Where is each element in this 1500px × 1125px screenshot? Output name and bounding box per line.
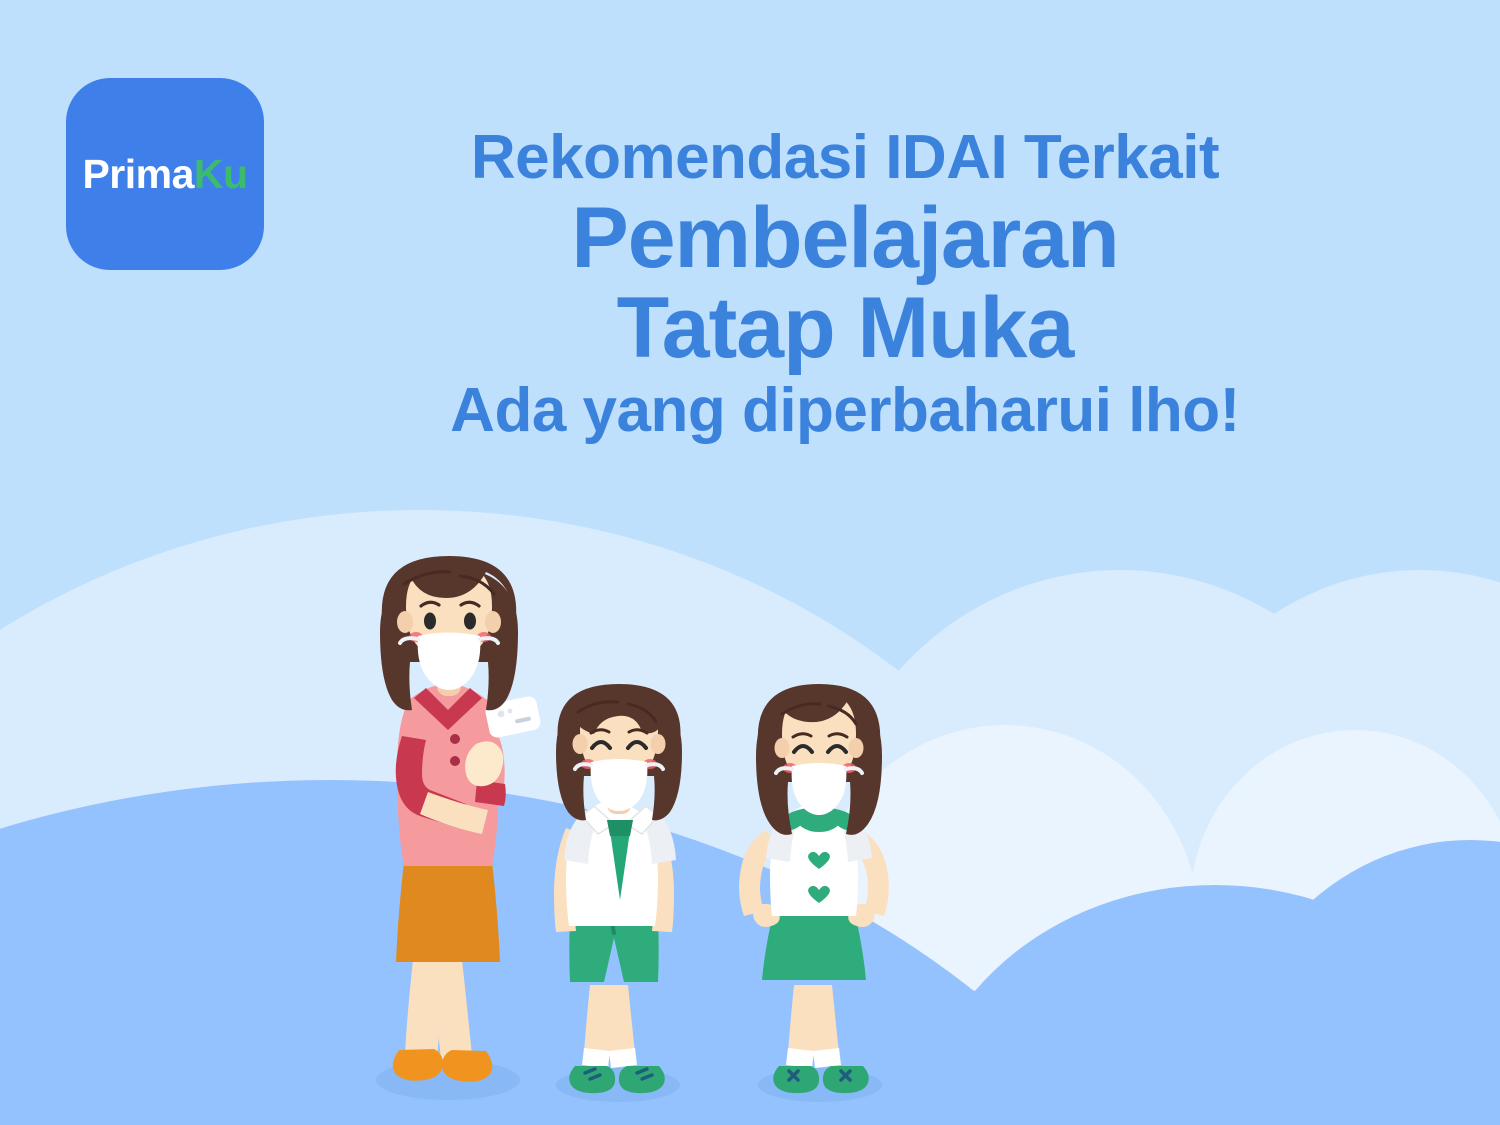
girl-mask xyxy=(792,763,847,815)
teacher-eye-left xyxy=(424,613,436,630)
teacher-shoe-left xyxy=(393,1049,443,1081)
teacher-mask xyxy=(418,633,481,691)
boy-tie-knot xyxy=(607,820,633,836)
teacher-eye-right xyxy=(464,613,476,630)
headline-line-4: Ada yang diperbaharui lho! xyxy=(330,379,1360,442)
primaku-logo[interactable]: PrimaKu xyxy=(66,78,264,270)
teacher-button-1 xyxy=(450,734,460,744)
headline-line-1: Rekomendasi IDAI Terkait xyxy=(330,126,1360,189)
teacher-shoe-right xyxy=(442,1050,492,1082)
girl-ear-left xyxy=(775,738,790,758)
boy-sock-left xyxy=(582,1048,610,1068)
teacher-ear-right xyxy=(485,611,501,633)
headline-line-2: Pembelajaran xyxy=(330,195,1360,283)
figure-boy-student xyxy=(554,684,682,1093)
primaku-wordmark: PrimaKu xyxy=(82,154,247,195)
teacher-skirt xyxy=(396,862,500,962)
figure-teacher xyxy=(380,556,542,1082)
headline-line-3: Tatap Muka xyxy=(330,285,1360,373)
teacher-ear-left xyxy=(397,611,413,633)
logo-text-prima: Prima xyxy=(82,151,193,197)
headline-block: Rekomendasi IDAI Terkait Pembelajaran Ta… xyxy=(330,126,1360,442)
boy-mask xyxy=(591,759,648,811)
boy-sock-right xyxy=(609,1048,637,1068)
girl-sock-right xyxy=(813,1048,841,1068)
boy-ear-left xyxy=(573,734,588,754)
girl-sock-left xyxy=(786,1048,814,1068)
teacher-button-2 xyxy=(450,756,460,766)
figure-girl-student xyxy=(739,684,889,1093)
logo-text-ku: Ku xyxy=(194,151,248,197)
girl-ear-right xyxy=(849,738,864,758)
poster-canvas: PrimaKu Rekomendasi IDAI Terkait Pembela… xyxy=(0,0,1500,1125)
boy-ear-right xyxy=(651,734,666,754)
girl-shoe-right xyxy=(823,1066,869,1093)
